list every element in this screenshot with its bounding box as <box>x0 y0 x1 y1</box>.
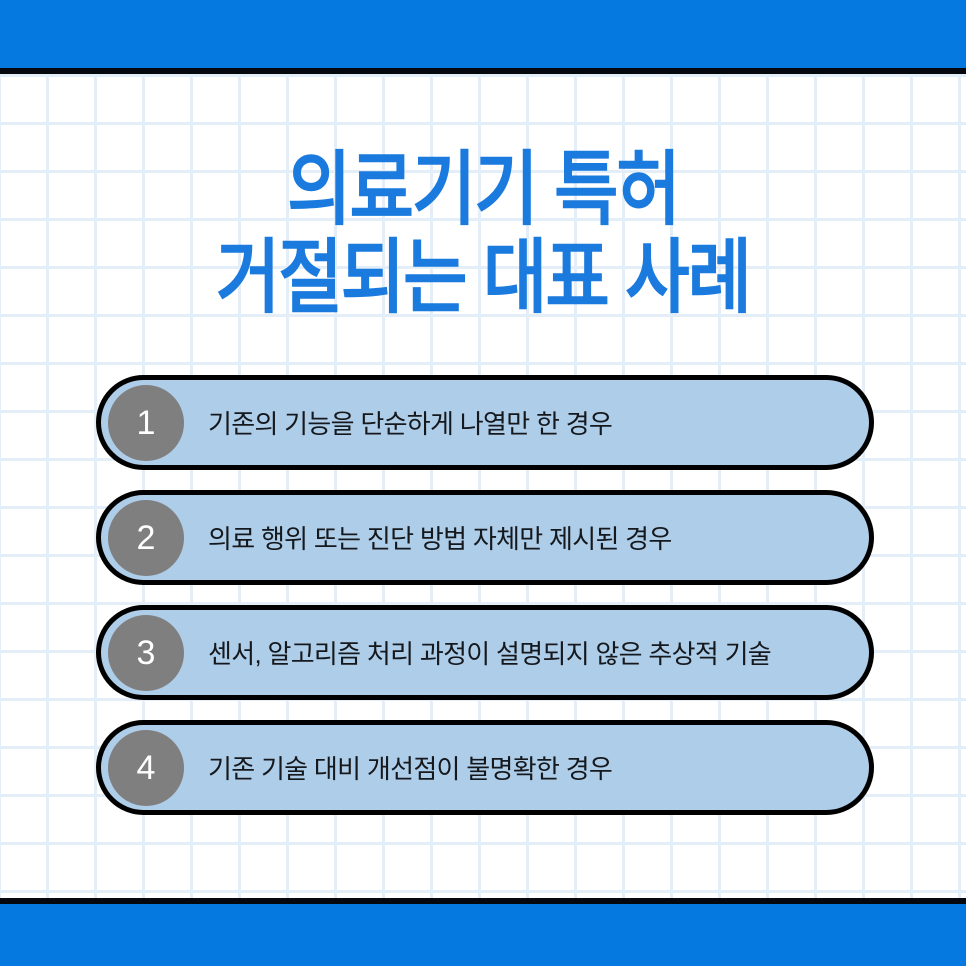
list-item: 4 기존 기술 대비 개선점이 불명확한 경우 <box>96 720 874 815</box>
rejection-case-list: 1 기존의 기능을 단순하게 나열만 한 경우 2 의료 행위 또는 진단 방법… <box>96 375 874 815</box>
bottom-blue-bar <box>0 904 966 966</box>
list-item-label: 기존의 기능을 단순하게 나열만 한 경우 <box>208 404 845 441</box>
list-item-label: 기존 기술 대비 개선점이 불명확한 경우 <box>208 749 845 786</box>
item-number-badge: 3 <box>108 615 184 691</box>
list-item: 1 기존의 기능을 단순하게 나열만 한 경우 <box>96 375 874 470</box>
list-item-label: 센서, 알고리즘 처리 과정이 설명되지 않은 추상적 기술 <box>208 634 845 671</box>
top-black-rule <box>0 68 966 74</box>
list-item: 2 의료 행위 또는 진단 방법 자체만 제시된 경우 <box>96 490 874 585</box>
item-number-badge: 1 <box>108 385 184 461</box>
title-line-2: 거절되는 대표 사례 <box>0 236 966 320</box>
infographic-card: 의료기기 특허 거절되는 대표 사례 1 기존의 기능을 단순하게 나열만 한 … <box>0 0 966 966</box>
page-title: 의료기기 특허 거절되는 대표 사례 <box>0 148 966 308</box>
list-item-label: 의료 행위 또는 진단 방법 자체만 제시된 경우 <box>208 519 845 556</box>
item-number-badge: 4 <box>108 730 184 806</box>
top-blue-bar <box>0 0 966 68</box>
title-line-1: 의료기기 특허 <box>0 148 966 232</box>
item-number-badge: 2 <box>108 500 184 576</box>
list-item: 3 센서, 알고리즘 처리 과정이 설명되지 않은 추상적 기술 <box>96 605 874 700</box>
